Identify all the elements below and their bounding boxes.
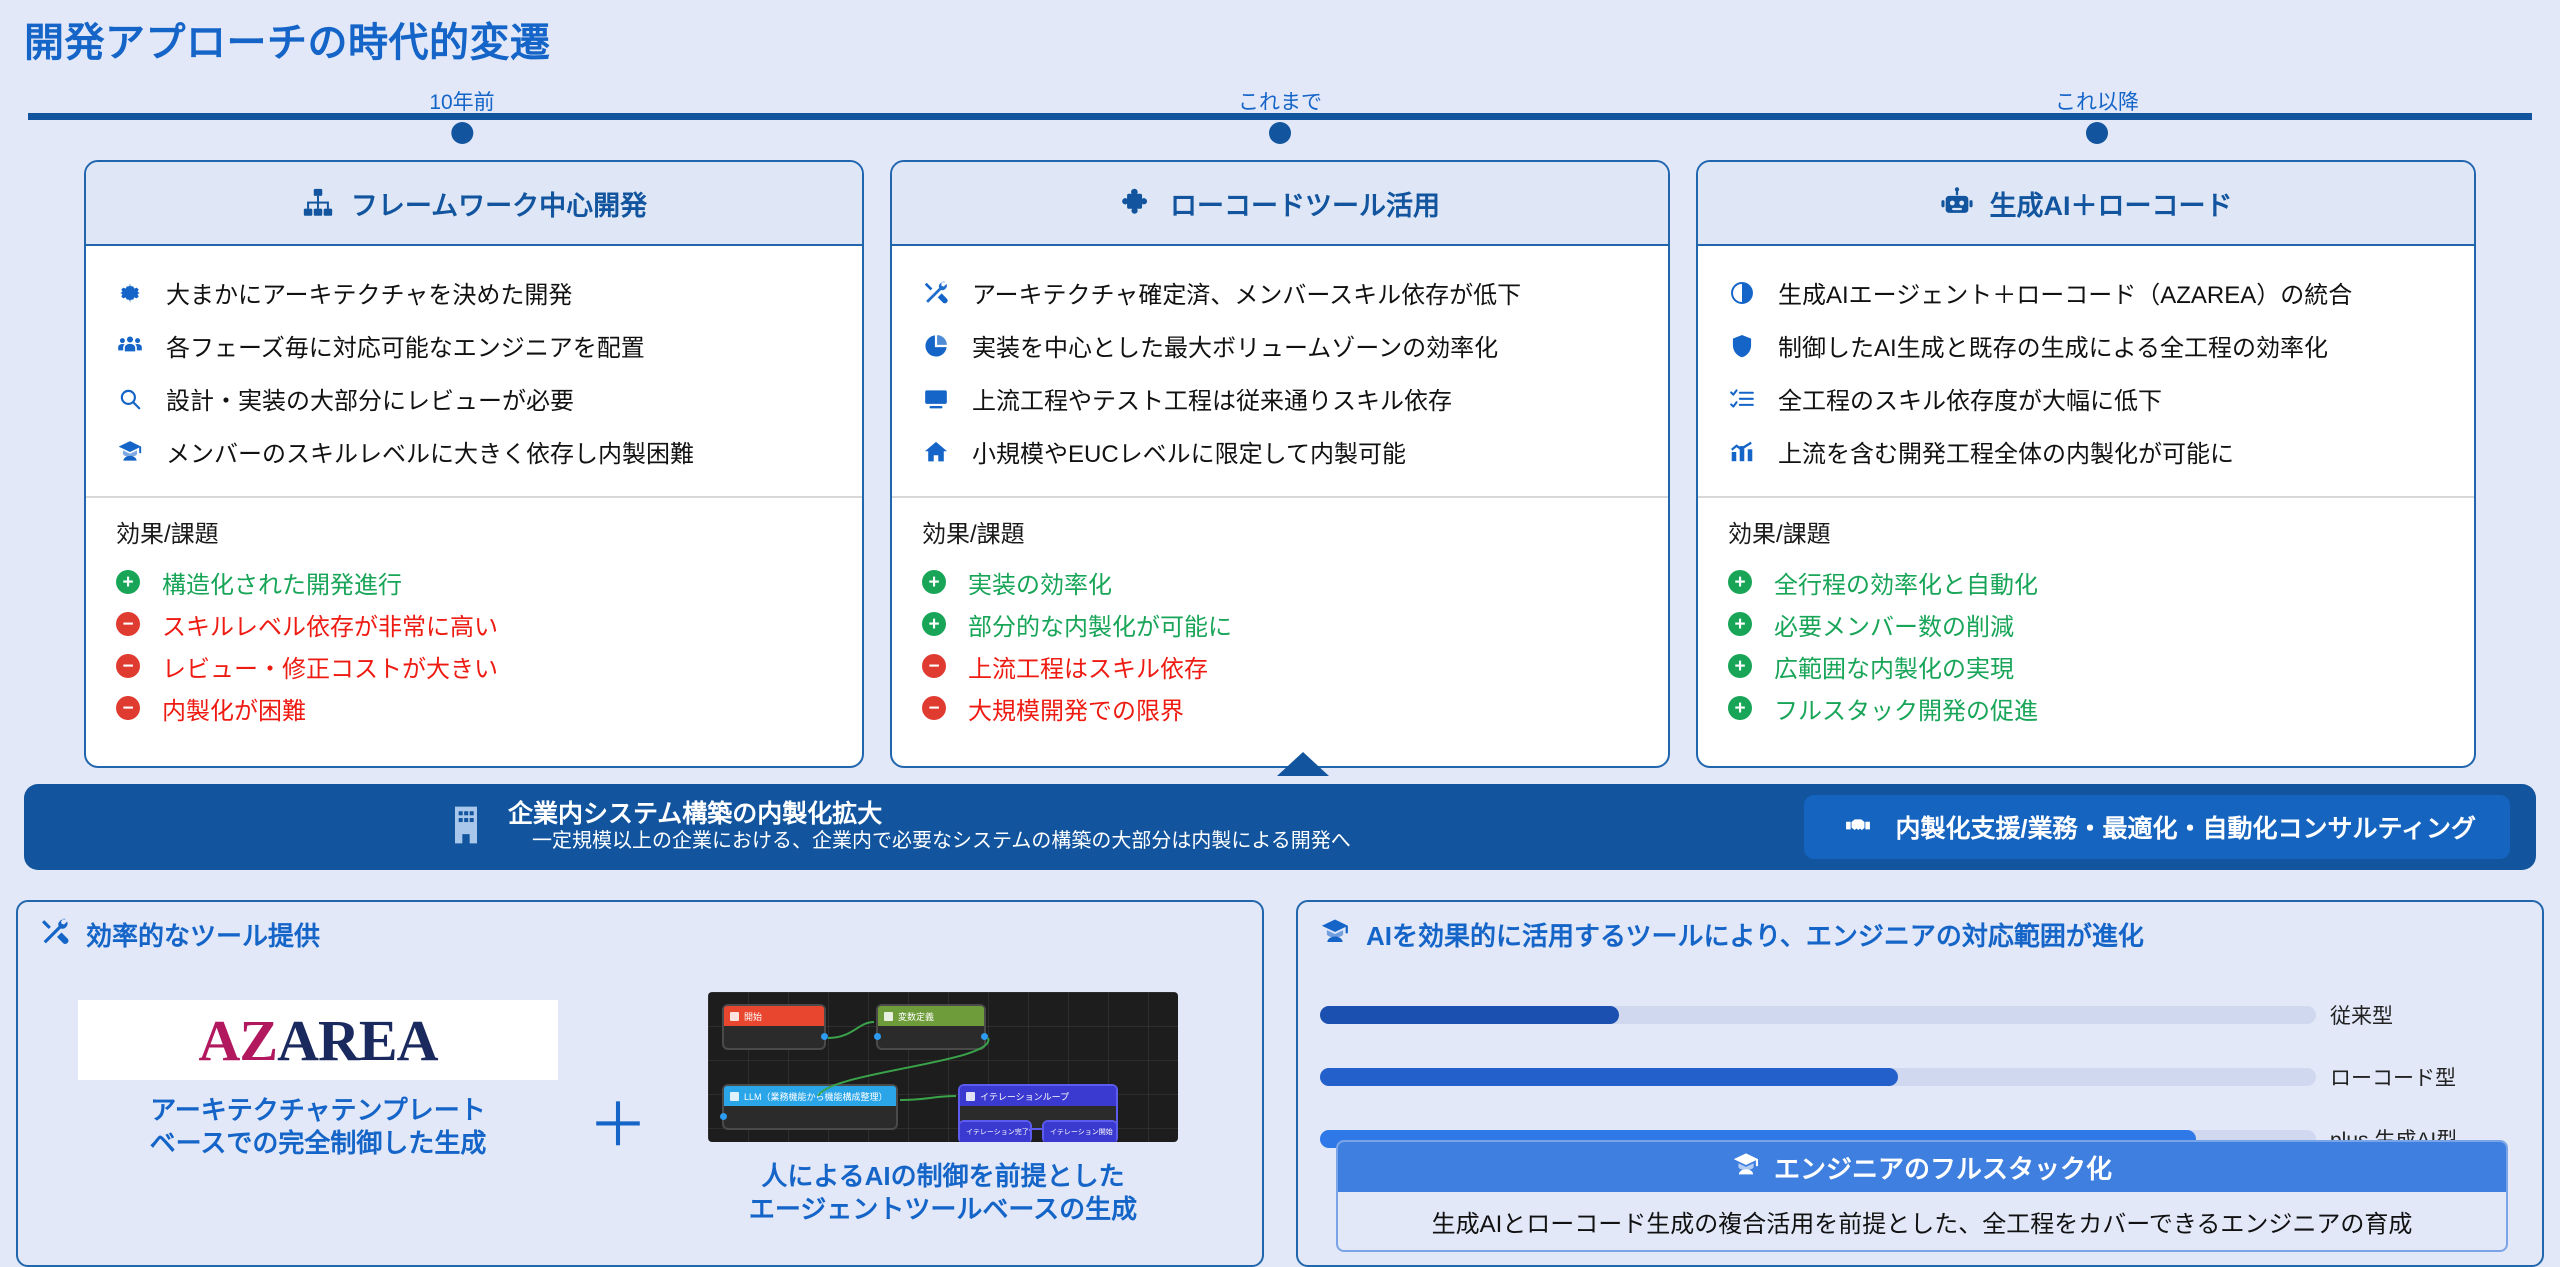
panel-header: 効率的なツール提供 (18, 902, 1262, 953)
effects-title: 効果/課題 (116, 514, 832, 549)
timeline-label-2: これ以降 (2055, 86, 2139, 116)
timeline-label-0: 10年前 (429, 86, 494, 116)
list-check-icon (1728, 385, 1756, 413)
effect-row: + 部分的な内製化が可能に (922, 603, 1638, 645)
effect-text: 全行程の効率化と自動化 (1774, 565, 2038, 600)
bar-track (1320, 1068, 2316, 1086)
feature-text: 上流を含む開発工程全体の内製化が可能に (1778, 434, 2234, 469)
bar-label: ローコード型 (2330, 1062, 2520, 1092)
effect-row: + フルスタック開発の促進 (1728, 687, 2444, 729)
feature-text: 上流工程やテスト工程は従来通りスキル依存 (972, 381, 1452, 416)
feature-row: 設計・実装の大部分にレビューが必要 (116, 372, 832, 425)
feature-row: 制御したAI生成と既存の生成による全工程の効率化 (1728, 319, 2444, 372)
cards-row: フレームワーク中心開発 大まかにアーキテクチャを決めた開発 (0, 160, 2560, 770)
feature-text: メンバーのスキルレベルに大きく依存し内製困難 (166, 434, 694, 469)
bar-row: 従来型 (1320, 984, 2520, 1046)
azarea-wordmark: AZAREA (199, 1007, 438, 1074)
feature-row: アーキテクチャ確定済、メンバースキル依存が低下 (922, 266, 1638, 319)
feature-text: 実装を中心とした最大ボリュームゾーンの効率化 (972, 328, 1498, 363)
panel-header-label: AIを効果的に活用するツールにより、エンジニアの対応範囲が進化 (1366, 916, 2144, 953)
flow-editor-screenshot: 開始 変数定義 LLM（業務機能から機能構成整理） イテレーションループ イテレ… (708, 992, 1178, 1142)
up-arrow-icon (1277, 752, 1329, 776)
card-header: ローコードツール活用 (892, 162, 1668, 246)
feature-row: 生成AIエージェント＋ローコード（AZAREA）の統合 (1728, 266, 2444, 319)
feature-row: 大まかにアーキテクチャを決めた開発 (116, 266, 832, 319)
effect-text: 構造化された開発進行 (162, 565, 402, 600)
minus-badge-icon: − (116, 696, 140, 720)
feature-text: 小規模やEUCレベルに限定して内製可能 (972, 434, 1406, 469)
banner-subtitle: 一定規模以上の企業における、企業内で必要なシステムの構築の大部分は内製による開発… (508, 828, 1351, 854)
card-header-label: ローコードツール活用 (1170, 184, 1440, 223)
minus-badge-icon: − (922, 654, 946, 678)
bottom-row: 効率的なツール提供 AZAREA アーキテクチャテンプレート ベースでの完全制御… (0, 900, 2560, 1267)
effect-text: 大規模開発での限界 (968, 691, 1184, 726)
feature-text: 大まかにアーキテクチャを決めた開発 (166, 275, 572, 310)
card-header-label: 生成AI＋ローコード (1990, 184, 2233, 223)
card-features: 大まかにアーキテクチャを決めた開発 各フェーズ毎に対応可能なエンジニアを配置 (86, 246, 862, 486)
azarea-block: AZAREA アーキテクチャテンプレート ベースでの完全制御した生成 (78, 1000, 558, 1160)
fullstack-header: エンジニアのフルスタック化 (1338, 1142, 2506, 1192)
robot-icon (1940, 186, 1974, 220)
fullstack-title: エンジニアのフルスタック化 (1774, 1149, 2112, 1186)
page-title: 開発アプローチの時代的変遷 (24, 10, 551, 68)
card-features: 生成AIエージェント＋ローコード（AZAREA）の統合 制御したAI生成と既存の… (1698, 246, 2474, 486)
minus-badge-icon: − (922, 696, 946, 720)
chart-bar-icon (1728, 438, 1756, 466)
fullstack-body: 生成AIとローコード生成の複合活用を前提とした、全工程をカバーできるエンジニアの… (1338, 1192, 2506, 1250)
people-group-icon (116, 332, 144, 360)
pie-chart-icon (922, 332, 950, 360)
card-header: フレームワーク中心開発 (86, 162, 862, 246)
graduate-icon (116, 438, 144, 466)
graduate-icon (1732, 1151, 1760, 1184)
effect-text: 実装の効率化 (968, 565, 1112, 600)
handshake-icon (1838, 812, 1878, 843)
shield-icon (1728, 332, 1756, 360)
effect-text: 内製化が困難 (162, 691, 306, 726)
slide-root: 開発アプローチの時代的変遷 10年前 これまで これ以降 (0, 0, 2560, 1267)
insourcing-banner: 企業内システム構築の内製化拡大 一定規模以上の企業における、企業内で必要なシステ… (24, 784, 2536, 870)
effect-text: レビュー・修正コストが大きい (162, 649, 498, 684)
puzzle-icon (1120, 186, 1154, 220)
effect-row: − 上流工程はスキル依存 (922, 645, 1638, 687)
effect-row: + 広範囲な内製化の実現 (1728, 645, 2444, 687)
timeline-dot-2 (2086, 122, 2108, 144)
flow-edges (708, 992, 1178, 1142)
plus-badge-icon: + (1728, 612, 1752, 636)
timeline-dot-0 (451, 122, 473, 144)
feature-text: 全工程のスキル依存度が大幅に低下 (1778, 381, 2162, 416)
bar-fill (1320, 1068, 1898, 1086)
azarea-letter-z: Z (239, 1008, 277, 1073)
minus-badge-icon: − (116, 654, 140, 678)
tools-panel: 効率的なツール提供 AZAREA アーキテクチャテンプレート ベースでの完全制御… (16, 900, 1264, 1267)
contrast-icon (1728, 279, 1756, 307)
plus-badge-icon: + (1728, 696, 1752, 720)
azarea-logo: AZAREA (78, 1000, 558, 1080)
effect-text: 部分的な内製化が可能に (968, 607, 1232, 642)
panel-header: AIを効果的に活用するツールにより、エンジニアの対応範囲が進化 (1298, 902, 2542, 953)
effect-row: + 実装の効率化 (922, 561, 1638, 603)
effect-row: − 大規模開発での限界 (922, 687, 1638, 729)
card-effects: 効果/課題 + 実装の効率化 + 部分的な内製化が可能に − 上流工程はスキル依… (892, 498, 1668, 729)
plus-separator: ＋ (588, 1077, 648, 1164)
tools-icon (922, 279, 950, 307)
effect-row: + 構造化された開発進行 (116, 561, 832, 603)
timeline-label-1: これまで (1238, 86, 1322, 116)
panel-header-label: 効率的なツール提供 (86, 916, 320, 953)
graduate-icon (1320, 917, 1350, 952)
consulting-pill[interactable]: 内製化支援/業務・最適化・自動化コンサルティング (1804, 795, 2510, 859)
home-icon (922, 438, 950, 466)
plus-badge-icon: + (116, 570, 140, 594)
card-lowcode: ローコードツール活用 アーキテクチャ確定済、メンバースキル依存が低下 (890, 160, 1670, 768)
feature-row: 上流工程やテスト工程は従来通りスキル依存 (922, 372, 1638, 425)
feature-text: 設計・実装の大部分にレビューが必要 (166, 381, 574, 416)
timeline-node-1: これまで (1238, 86, 1322, 144)
banner-title: 企業内システム構築の内製化拡大 (508, 800, 1351, 829)
timeline-dot-1 (1269, 122, 1291, 144)
banner-text: 企業内システム構築の内製化拡大 一定規模以上の企業における、企業内で必要なシステ… (508, 800, 1351, 855)
effect-text: フルスタック開発の促進 (1774, 691, 2038, 726)
azarea-letters-area: AREA (277, 1008, 437, 1073)
card-effects: 効果/課題 + 構造化された開発進行 − スキルレベル依存が非常に高い − レビ… (86, 498, 862, 729)
feature-text: 生成AIエージェント＋ローコード（AZAREA）の統合 (1778, 275, 2352, 310)
desktop-icon (922, 385, 950, 413)
effect-row: + 必要メンバー数の削減 (1728, 603, 2444, 645)
effect-text: 上流工程はスキル依存 (968, 649, 1208, 684)
bar-track (1320, 1006, 2316, 1024)
feature-text: 各フェーズ毎に対応可能なエンジニアを配置 (166, 328, 645, 363)
feature-text: アーキテクチャ確定済、メンバースキル依存が低下 (972, 275, 1521, 310)
plus-badge-icon: + (1728, 570, 1752, 594)
bar-label: 従来型 (2330, 1000, 2520, 1030)
feature-row: 全工程のスキル依存度が大幅に低下 (1728, 372, 2444, 425)
flow-caption: 人によるAIの制御を前提とした エージェントツールベースの生成 (658, 1160, 1228, 1226)
card-framework: フレームワーク中心開発 大まかにアーキテクチャを決めた開発 (84, 160, 864, 768)
azarea-letter-a: A (199, 1008, 240, 1073)
effect-row: − スキルレベル依存が非常に高い (116, 603, 832, 645)
timeline: 10年前 これまで これ以降 (28, 86, 2532, 126)
bar-row: ローコード型 (1320, 1046, 2520, 1108)
minus-badge-icon: − (116, 612, 140, 636)
effect-text: スキルレベル依存が非常に高い (162, 607, 498, 642)
ai-scope-panel: AIを効果的に活用するツールにより、エンジニアの対応範囲が進化 従来型 ローコー… (1296, 900, 2544, 1267)
card-header: 生成AI＋ローコード (1698, 162, 2474, 246)
effect-text: 広範囲な内製化の実現 (1774, 649, 2014, 684)
gear-icon (116, 279, 144, 307)
timeline-node-2: これ以降 (2055, 86, 2139, 144)
feature-row: メンバーのスキルレベルに大きく依存し内製困難 (116, 425, 832, 478)
feature-row: 上流を含む開発工程全体の内製化が可能に (1728, 425, 2444, 478)
effects-title: 効果/課題 (1728, 514, 2444, 549)
feature-row: 小規模やEUCレベルに限定して内製可能 (922, 425, 1638, 478)
consulting-pill-label: 内製化支援/業務・最適化・自動化コンサルティング (1896, 809, 2476, 845)
card-features: アーキテクチャ確定済、メンバースキル依存が低下 実装を中心とした最大ボリュームゾ… (892, 246, 1668, 486)
card-header-label: フレームワーク中心開発 (351, 184, 647, 223)
effect-row: + 全行程の効率化と自動化 (1728, 561, 2444, 603)
effects-title: 効果/課題 (922, 514, 1638, 549)
feature-text: 制御したAI生成と既存の生成による全工程の効率化 (1778, 328, 2328, 363)
effect-row: − レビュー・修正コストが大きい (116, 645, 832, 687)
feature-row: 実装を中心とした最大ボリュームゾーンの効率化 (922, 319, 1638, 372)
sitemap-icon (301, 186, 335, 220)
fullstack-box: エンジニアのフルスタック化 生成AIとローコード生成の複合活用を前提とした、全工… (1336, 1140, 2508, 1252)
feature-row: 各フェーズ毎に対応可能なエンジニアを配置 (116, 319, 832, 372)
plus-badge-icon: + (922, 570, 946, 594)
azarea-caption: アーキテクチャテンプレート ベースでの完全制御した生成 (78, 1094, 558, 1160)
card-effects: 効果/課題 + 全行程の効率化と自動化 + 必要メンバー数の削減 + 広範囲な内… (1698, 498, 2474, 729)
tools-icon (40, 917, 70, 952)
bar-fill (1320, 1006, 1619, 1024)
timeline-node-0: 10年前 (429, 86, 494, 144)
plus-badge-icon: + (1728, 654, 1752, 678)
building-icon (444, 803, 488, 852)
effect-text: 必要メンバー数の削減 (1774, 607, 2014, 642)
card-genai-lowcode: 生成AI＋ローコード 生成AIエージェント＋ローコード（AZAREA）の統合 (1696, 160, 2476, 768)
banner-content: 企業内システム構築の内製化拡大 一定規模以上の企業における、企業内で必要なシステ… (444, 800, 1351, 855)
magnifier-icon (116, 385, 144, 413)
effect-row: − 内製化が困難 (116, 687, 832, 729)
plus-badge-icon: + (922, 612, 946, 636)
